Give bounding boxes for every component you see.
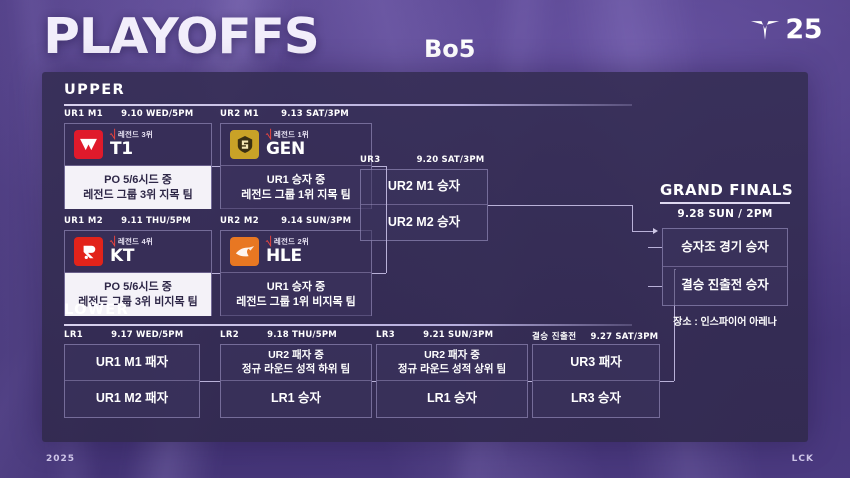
match-slot-top: 승자조 경기 승자 bbox=[663, 229, 787, 267]
team-row-hle[interactable]: ⎷ 레전드 2위 HLE bbox=[221, 231, 371, 273]
grand-finals-title: GRAND FINALS bbox=[660, 181, 793, 199]
desc-line-1: UR2 패자 중 bbox=[268, 349, 324, 362]
col-head-lr3: LR3 9.21 SUN/3PM bbox=[376, 330, 528, 340]
match-slot-bottom: UR2 M2 승자 bbox=[361, 205, 487, 240]
round-date: 9.27 SAT/3PM bbox=[590, 332, 658, 342]
round-code: UR2 M2 bbox=[220, 216, 259, 226]
footer-brand: LCK bbox=[792, 454, 814, 464]
match-card-grand-finals[interactable]: 승자조 경기 승자 결승 진출전 승자 bbox=[662, 228, 788, 306]
team-row-kt[interactable]: ⎷ 레전드 4위 KT bbox=[65, 231, 211, 273]
desc-line-2: 레전드 그룹 3위 지목 팀 bbox=[83, 188, 192, 202]
connector bbox=[660, 381, 674, 382]
desc-line-2: 정규 라운드 성적 상위 팀 bbox=[398, 363, 506, 376]
connector bbox=[386, 166, 387, 273]
match-card-ur1m1[interactable]: ⎷ 레전드 3위 T1 PO 5/6시드 중 레전드 그룹 3위 지목 팀 bbox=[64, 123, 212, 209]
match-desc-ur2m2: UR1 승자 중 레전드 그룹 1위 비지목 팀 bbox=[221, 273, 371, 316]
round-code: UR3 bbox=[360, 155, 381, 165]
gen-logo bbox=[230, 130, 259, 159]
round-date: 9.11 THU/5PM bbox=[121, 216, 191, 226]
page-title: PLAYOFFS bbox=[43, 8, 318, 65]
connector bbox=[372, 381, 376, 382]
round-code: UR2 M1 bbox=[220, 109, 259, 119]
grand-finals-divider bbox=[660, 202, 790, 204]
team-name: KT bbox=[110, 248, 153, 266]
t1-logo bbox=[74, 130, 103, 159]
footer-year: 2025 bbox=[46, 454, 75, 464]
team-seed: 레전드 2위 bbox=[274, 238, 309, 246]
series-format-label: Bo5 bbox=[424, 35, 475, 63]
connector bbox=[648, 247, 662, 248]
match-card-lr2[interactable]: UR2 패자 중 정규 라운드 성적 하위 팀 LR1 승자 bbox=[220, 344, 372, 418]
match-slot-top: UR1 M1 패자 bbox=[65, 345, 199, 381]
desc-line-1: UR2 패자 중 bbox=[424, 349, 480, 362]
desc-line-1: UR1 승자 중 bbox=[267, 173, 325, 187]
connector bbox=[200, 381, 220, 382]
round-date: 9.20 SAT/3PM bbox=[417, 155, 485, 165]
round-date: 9.21 SUN/3PM bbox=[423, 330, 493, 340]
match-card-lr1[interactable]: UR1 M1 패자 UR1 M2 패자 bbox=[64, 344, 200, 418]
grand-finals-venue: 장소 : 인스파이어 아레나 bbox=[660, 313, 790, 328]
match-slot-bottom: 결승 진출전 승자 bbox=[663, 267, 787, 305]
connector bbox=[372, 273, 386, 274]
connector-arrow bbox=[653, 228, 658, 234]
upper-divider bbox=[64, 104, 632, 106]
lck-year: 25 bbox=[785, 14, 822, 45]
team-row-t1[interactable]: ⎷ 레전드 3위 T1 bbox=[65, 124, 211, 166]
match-card-ur2m2[interactable]: ⎷ 레전드 2위 HLE UR1 승자 중 레전드 그룹 1위 비지목 팀 bbox=[220, 230, 372, 316]
connector bbox=[528, 381, 532, 382]
col-head-lr1: LR1 9.17 WED/5PM bbox=[64, 330, 200, 340]
team-row-gen[interactable]: ⎷ 레전드 1위 GEN bbox=[221, 124, 371, 166]
match-card-ur2m1[interactable]: ⎷ 레전드 1위 GEN UR1 승자 중 레전드 그룹 1위 지목 팀 bbox=[220, 123, 372, 209]
connector bbox=[648, 286, 662, 287]
team-seed: 레전드 3위 bbox=[118, 131, 153, 139]
col-head-ur2m2: UR2 M2 9.14 SUN/3PM bbox=[220, 216, 372, 226]
match-slot-bottom: LR1 승자 bbox=[377, 381, 527, 417]
desc-line-1: PO 5/6시드 중 bbox=[104, 280, 172, 294]
grand-finals-date: 9.28 SUN / 2PM bbox=[660, 208, 790, 220]
round-code: LR3 bbox=[376, 330, 395, 340]
col-head-final-qualifier: 결승 진출전 9.27 SAT/3PM bbox=[532, 330, 676, 342]
desc-line-2: 레전드 그룹 1위 비지목 팀 bbox=[236, 295, 356, 309]
desc-line-1: UR1 승자 중 bbox=[267, 280, 325, 294]
match-slot-top: UR2 M1 승자 bbox=[361, 170, 487, 205]
match-slot-top: UR2 패자 중 정규 라운드 성적 상위 팀 bbox=[377, 345, 527, 381]
col-head-lr2: LR2 9.18 THU/5PM bbox=[220, 330, 372, 340]
match-slot-bottom: LR3 승자 bbox=[533, 381, 659, 417]
desc-line-2: 정규 라운드 성적 하위 팀 bbox=[242, 363, 350, 376]
match-slot-top: UR2 패자 중 정규 라운드 성적 하위 팀 bbox=[221, 345, 371, 381]
lower-divider bbox=[64, 324, 632, 326]
connector bbox=[212, 166, 220, 167]
hle-logo bbox=[230, 237, 259, 266]
connector bbox=[632, 231, 654, 232]
round-date: 9.14 SUN/3PM bbox=[281, 216, 351, 226]
connector bbox=[632, 205, 633, 231]
desc-line-2: 레전드 그룹 1위 지목 팀 bbox=[241, 188, 350, 202]
connector bbox=[212, 273, 220, 274]
round-code: 결승 진출전 bbox=[532, 330, 576, 342]
team-seed: 레전드 4위 bbox=[118, 238, 153, 246]
col-head-ur1m2: UR1 M2 9.11 THU/5PM bbox=[64, 216, 212, 226]
connector bbox=[372, 166, 386, 167]
col-head-ur2m1: UR2 M1 9.13 SAT/3PM bbox=[220, 109, 372, 119]
match-card-ur3[interactable]: UR2 M1 승자 UR2 M2 승자 bbox=[360, 169, 488, 241]
connector bbox=[488, 205, 632, 206]
round-code: LR1 bbox=[64, 330, 83, 340]
desc-line-1: PO 5/6시드 중 bbox=[104, 173, 172, 187]
col-head-ur1m1: UR1 M1 9.10 WED/5PM bbox=[64, 109, 212, 119]
lower-section-title: LOWER bbox=[64, 302, 129, 318]
round-date: 9.17 WED/5PM bbox=[111, 330, 183, 340]
team-seed: 레전드 1위 bbox=[274, 131, 309, 139]
team-name: GEN bbox=[266, 141, 309, 159]
lck-logo: 25 bbox=[750, 14, 822, 45]
match-slot-bottom: UR1 M2 패자 bbox=[65, 381, 199, 417]
match-slot-top: UR3 패자 bbox=[533, 345, 659, 381]
match-card-lr3[interactable]: UR2 패자 중 정규 라운드 성적 상위 팀 LR1 승자 bbox=[376, 344, 528, 418]
round-date: 9.18 THU/5PM bbox=[267, 330, 337, 340]
lck-bird-icon bbox=[750, 17, 780, 43]
header: PLAYOFFS Bo5 25 bbox=[0, 0, 850, 72]
upper-section-title: UPPER bbox=[64, 82, 125, 98]
round-code: UR1 M2 bbox=[64, 216, 103, 226]
col-head-ur3: UR3 9.20 SAT/3PM bbox=[360, 155, 512, 165]
match-slot-bottom: LR1 승자 bbox=[221, 381, 371, 417]
match-card-final-qualifier[interactable]: UR3 패자 LR3 승자 bbox=[532, 344, 660, 418]
round-code: UR1 M1 bbox=[64, 109, 103, 119]
round-date: 9.13 SAT/3PM bbox=[281, 109, 349, 119]
team-name: T1 bbox=[110, 141, 153, 159]
team-name: HLE bbox=[266, 248, 309, 266]
kt-logo bbox=[74, 237, 103, 266]
match-desc-ur1m1: PO 5/6시드 중 레전드 그룹 3위 지목 팀 bbox=[65, 166, 211, 209]
round-code: LR2 bbox=[220, 330, 239, 340]
round-date: 9.10 WED/5PM bbox=[121, 109, 193, 119]
match-desc-ur2m1: UR1 승자 중 레전드 그룹 1위 지목 팀 bbox=[221, 166, 371, 209]
